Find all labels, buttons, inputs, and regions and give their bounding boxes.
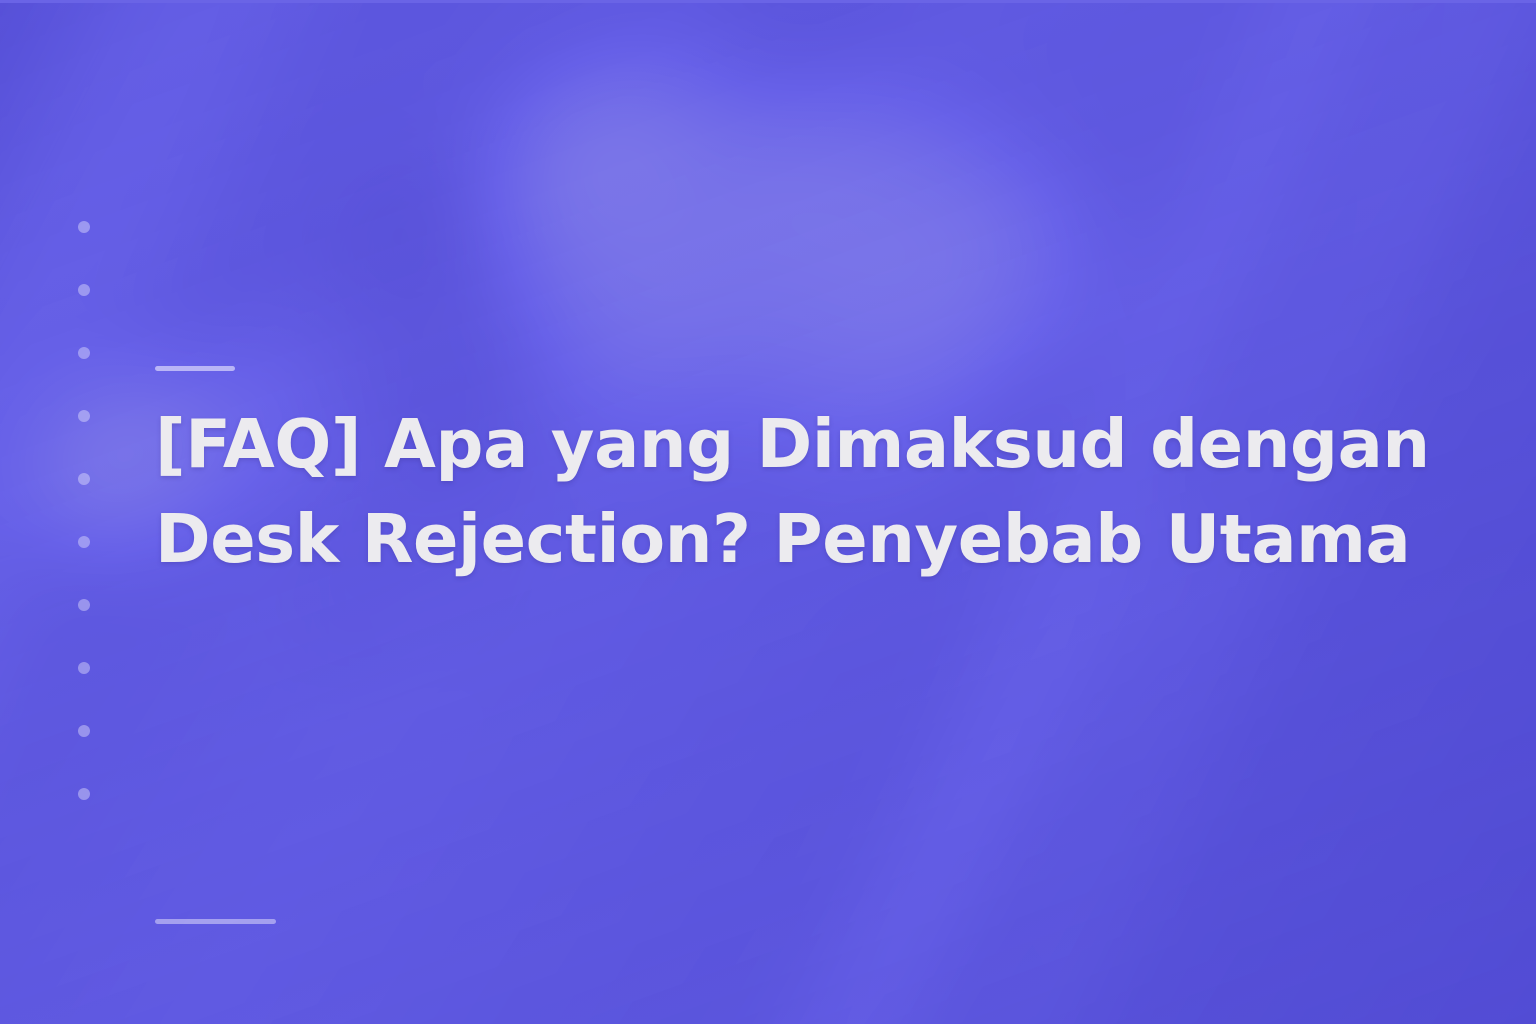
top-edge-strip (0, 0, 1536, 3)
decorative-dot (78, 662, 90, 674)
page-title: [FAQ] Apa yang Dimaksud dengan Desk Reje… (155, 397, 1485, 587)
decorative-dot (78, 599, 90, 611)
decorative-dot (78, 284, 90, 296)
accent-rule-top (155, 366, 235, 371)
decorative-dot (78, 725, 90, 737)
decorative-dot (78, 221, 90, 233)
accent-rule-bottom (155, 919, 276, 924)
decorative-dot (78, 347, 90, 359)
decorative-dot-rail (78, 221, 90, 800)
decorative-dot (78, 473, 90, 485)
decorative-dot (78, 536, 90, 548)
article-cover-card: [FAQ] Apa yang Dimaksud dengan Desk Reje… (0, 0, 1536, 1024)
headline-block: [FAQ] Apa yang Dimaksud dengan Desk Reje… (155, 366, 1495, 587)
decorative-dot (78, 410, 90, 422)
decorative-dot (78, 788, 90, 800)
